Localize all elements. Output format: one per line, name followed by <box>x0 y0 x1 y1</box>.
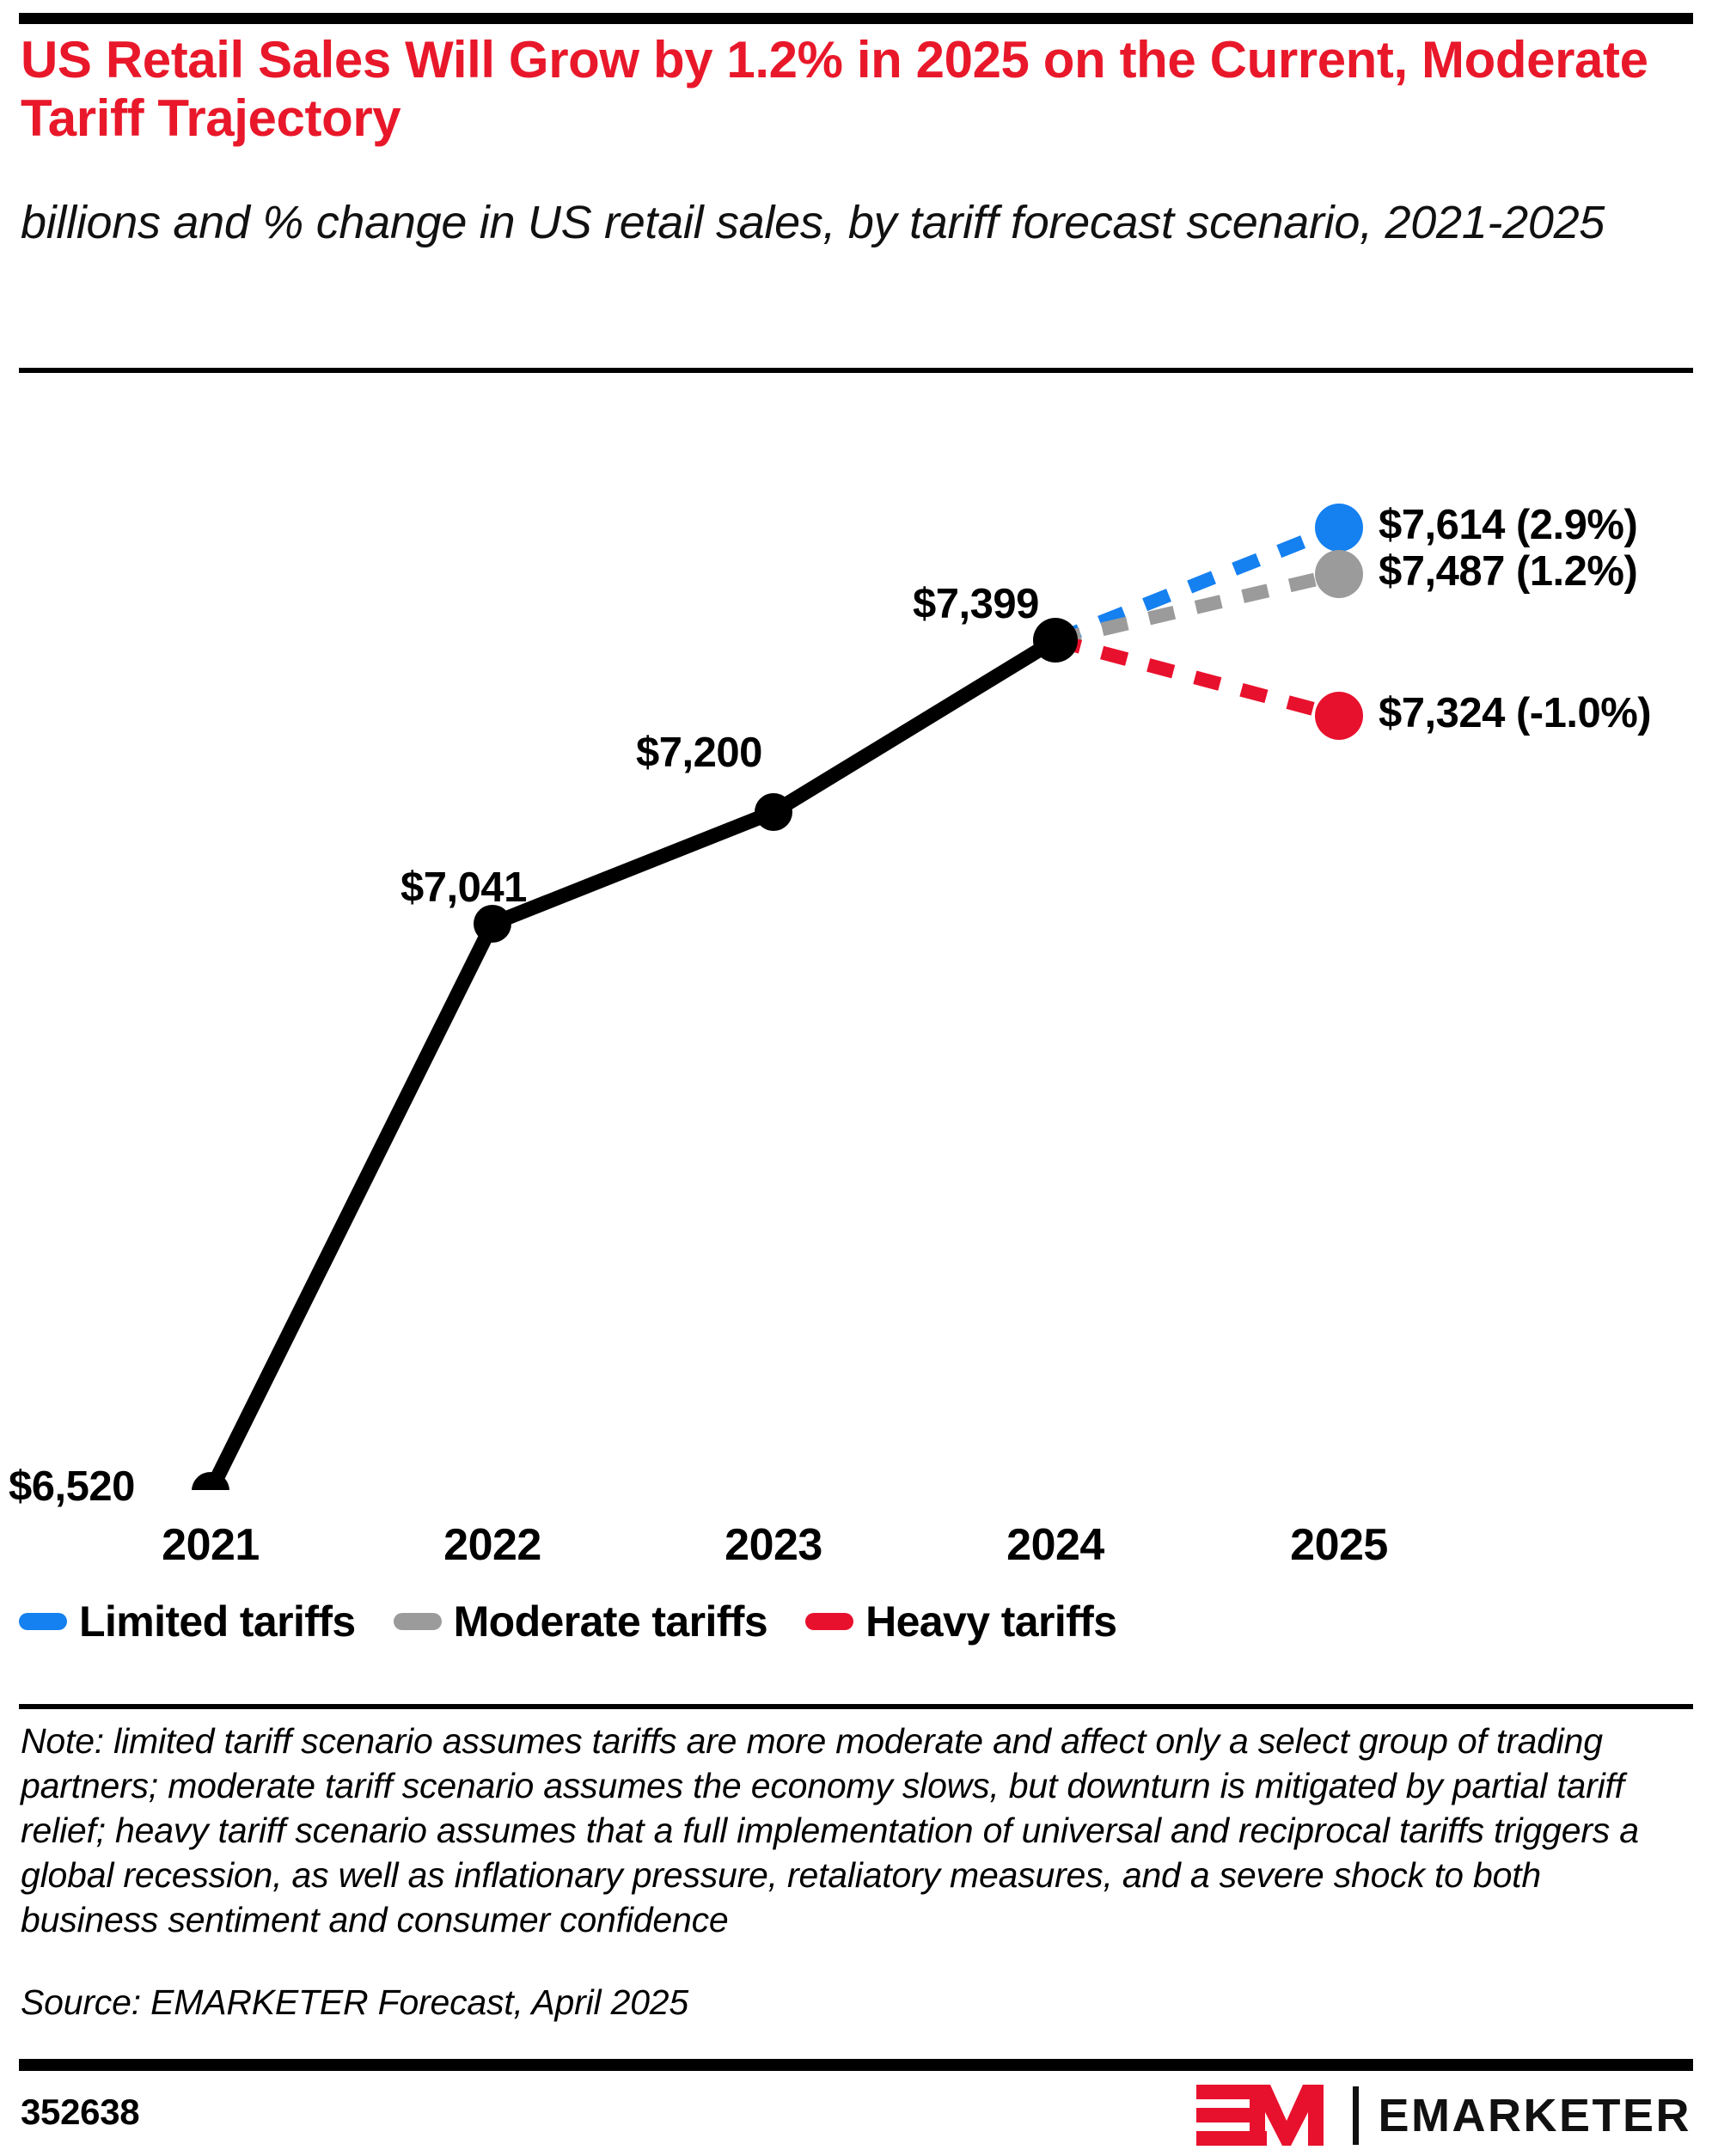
data-label-moderate-2025: $7,487 (1.2%) <box>1379 547 1637 595</box>
page-title: US Retail Sales Will Grow by 1.2% in 202… <box>21 31 1671 148</box>
data-point-2024[interactable] <box>1033 618 1078 663</box>
x-axis: 2021 2022 2023 2024 2025 <box>0 1519 1712 1579</box>
data-label-heavy-2025: $7,324 (-1.0%) <box>1379 689 1651 737</box>
legend-label-heavy: Heavy tariffs <box>865 1600 1116 1643</box>
legend-swatch-icon-heavy <box>805 1613 853 1630</box>
legend-label-moderate: Moderate tariffs <box>454 1600 767 1643</box>
emarketer-brand: EMARKETER <box>1196 2083 1691 2148</box>
top-divider-bar <box>19 13 1693 24</box>
legend-item-limited-tariffs[interactable]: Limited tariffs <box>19 1600 356 1643</box>
legend-label-limited: Limited tariffs <box>79 1600 356 1643</box>
data-point-limited-2025[interactable] <box>1315 504 1363 552</box>
chart-note: Note: limited tariff scenario assumes ta… <box>21 1719 1679 1942</box>
brand-divider <box>1353 2086 1359 2145</box>
legend-item-moderate-tariffs[interactable]: Moderate tariffs <box>394 1600 767 1643</box>
data-label-2022: $7,041 <box>400 864 527 912</box>
data-point-moderate-2025[interactable] <box>1315 550 1363 598</box>
chart-legend: Limited tariffs Moderate tariffs Heavy t… <box>19 1600 1116 1643</box>
data-point-heavy-2025[interactable] <box>1315 692 1363 740</box>
x-tick-2023: 2023 <box>679 1519 868 1571</box>
heavy-tariffs-line <box>1055 640 1339 716</box>
legend-swatch-icon-limited <box>19 1613 67 1630</box>
data-label-2021: $6,520 <box>9 1463 135 1511</box>
x-tick-2025: 2025 <box>1244 1519 1434 1571</box>
chart-id: 352638 <box>21 2092 139 2133</box>
legend-swatch-icon-moderate <box>394 1613 442 1630</box>
data-label-2024: $7,399 <box>913 580 1039 628</box>
data-label-2023: $7,200 <box>636 729 762 777</box>
legend-item-heavy-tariffs[interactable]: Heavy tariffs <box>805 1600 1116 1643</box>
x-tick-2022: 2022 <box>398 1519 587 1571</box>
chart-source: Source: EMARKETER Forecast, April 2025 <box>21 1980 1679 2025</box>
note-divider-rule <box>19 1704 1693 1709</box>
chart-plot-area: $6,520 $7,041 $7,200 $7,399 $7,614 (2.9%… <box>0 373 1712 1490</box>
brand-name: EMARKETER <box>1378 2092 1691 2139</box>
chart-page: US Retail Sales Will Grow by 1.2% in 202… <box>0 0 1712 2156</box>
x-tick-2024: 2024 <box>961 1519 1150 1571</box>
x-tick-2021: 2021 <box>116 1519 305 1571</box>
bottom-divider-bar <box>19 2059 1693 2071</box>
data-label-limited-2025: $7,614 (2.9%) <box>1379 501 1637 549</box>
emarketer-logo-icon <box>1196 2083 1334 2148</box>
historical-line <box>211 640 1055 1490</box>
page-subtitle: billions and % change in US retail sales… <box>21 196 1654 251</box>
data-point-2023[interactable] <box>755 793 792 831</box>
